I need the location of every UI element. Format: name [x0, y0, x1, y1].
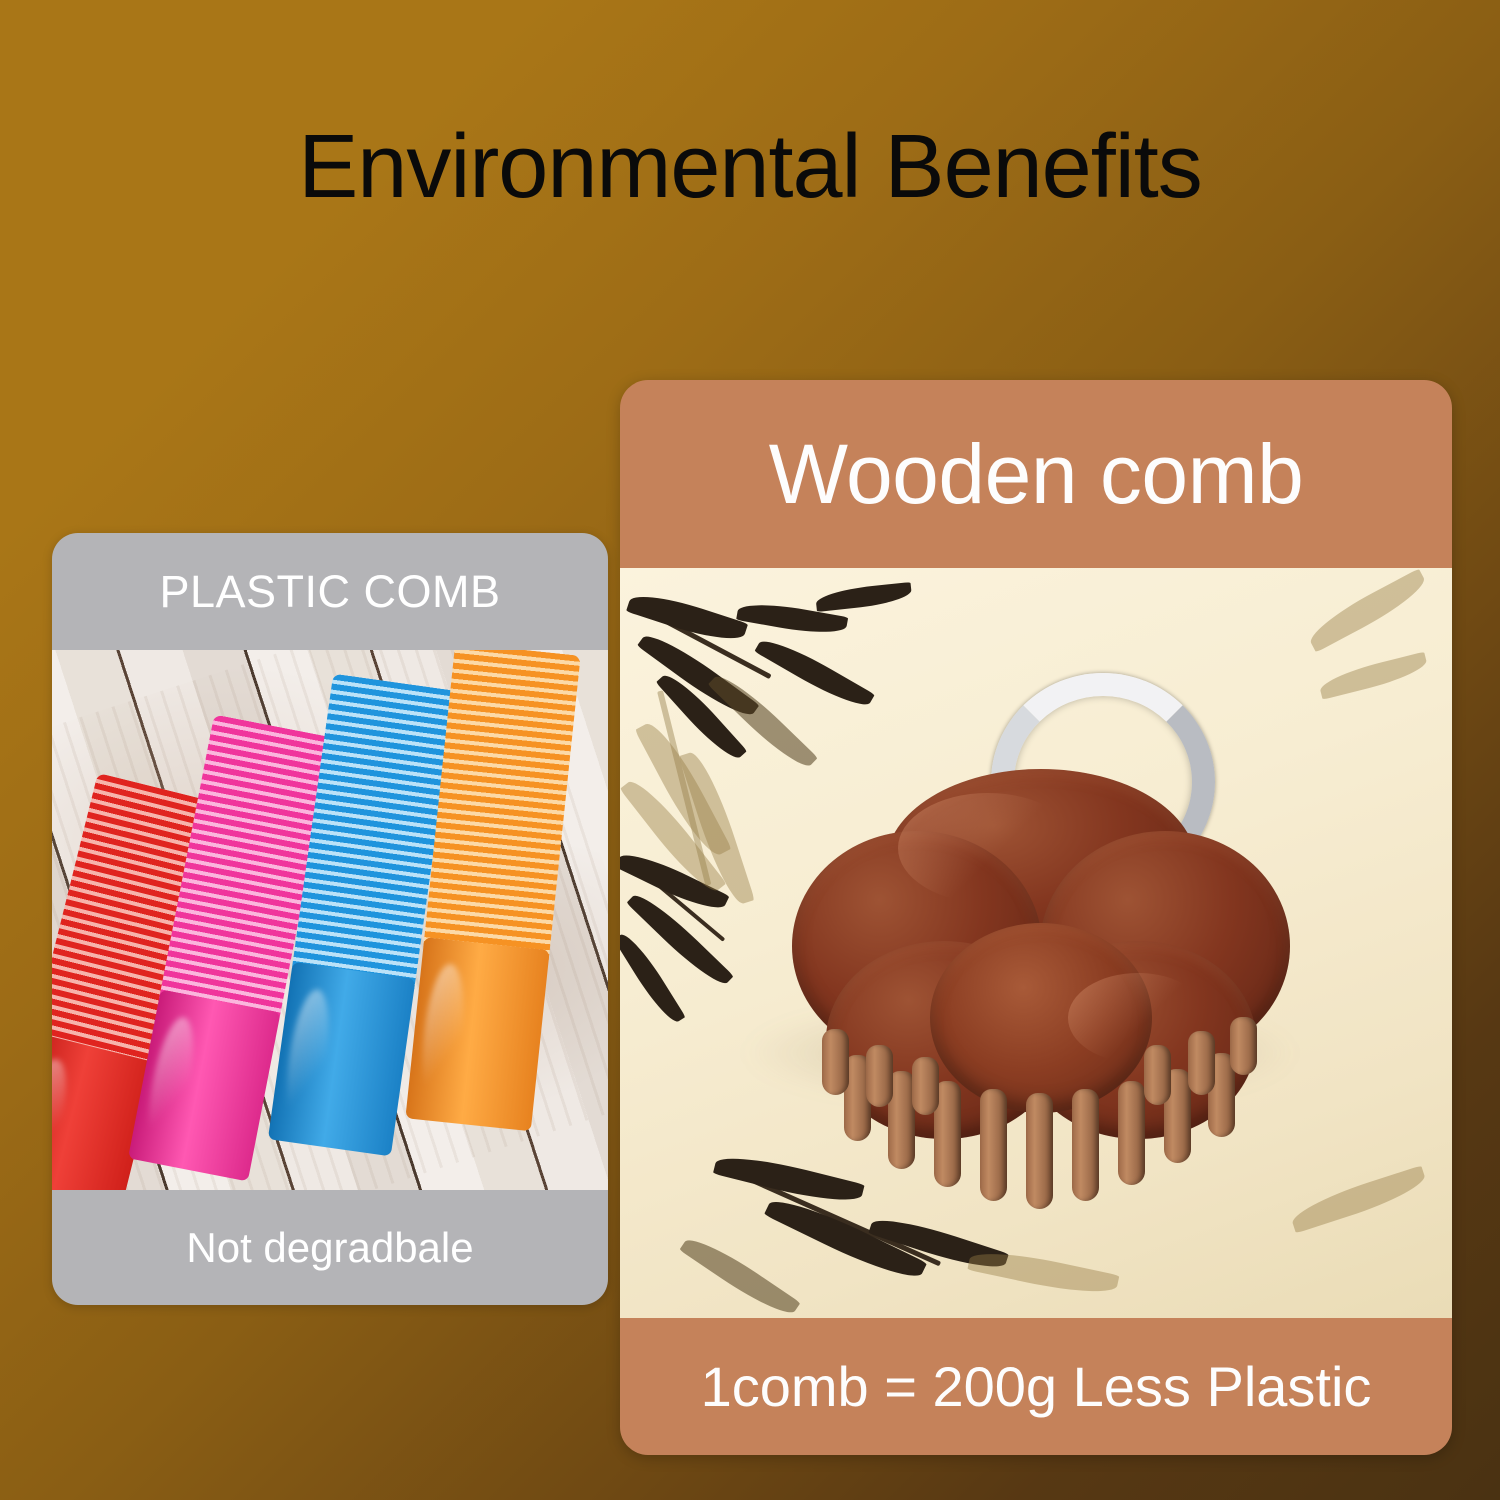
brush-tooth [1188, 1031, 1215, 1095]
wooden-comb-panel: Wooden comb [620, 380, 1452, 1455]
plastic-panel-header: PLASTIC COMB [52, 533, 608, 650]
wooden-comb-photo [620, 568, 1452, 1318]
brush-highlight [898, 793, 1078, 903]
bamboo-leaf-icon [815, 582, 913, 612]
plastic-caption-label: Not degradbale [186, 1224, 473, 1272]
plastic-comb-photo [52, 650, 608, 1190]
plastic-header-label: PLASTIC COMB [159, 566, 500, 618]
wooden-caption-label: 1comb = 200g Less Plastic [701, 1354, 1372, 1419]
brush-tooth [1144, 1045, 1171, 1105]
brush-tooth [1118, 1081, 1145, 1185]
wooden-panel-caption: 1comb = 200g Less Plastic [620, 1318, 1452, 1455]
brush-tooth [866, 1045, 893, 1107]
bamboo-leaf-icon [1317, 652, 1429, 700]
bamboo-leaf-icon [1304, 568, 1431, 652]
brush-tooth [1230, 1017, 1257, 1075]
brush-tooth [980, 1089, 1007, 1201]
brush-tooth [822, 1029, 849, 1095]
page-title: Environmental Benefits [0, 120, 1500, 215]
bamboo-leaf-icon [679, 1230, 800, 1318]
bamboo-leaf-icon [1288, 1165, 1429, 1233]
wooden-header-label: Wooden comb [769, 426, 1304, 523]
brush-highlight [1068, 973, 1208, 1063]
brush-tooth [1072, 1089, 1099, 1201]
brush-tooth [1026, 1093, 1053, 1209]
wooden-panel-header: Wooden comb [620, 380, 1452, 568]
brush-tooth [912, 1057, 939, 1115]
wooden-massage-brush [768, 673, 1308, 1193]
plastic-comb-panel: PLASTIC COMB [52, 533, 608, 1305]
plastic-panel-caption: Not degradbale [52, 1190, 608, 1305]
infographic-canvas: Environmental Benefits PLASTIC COMB [0, 0, 1500, 1500]
